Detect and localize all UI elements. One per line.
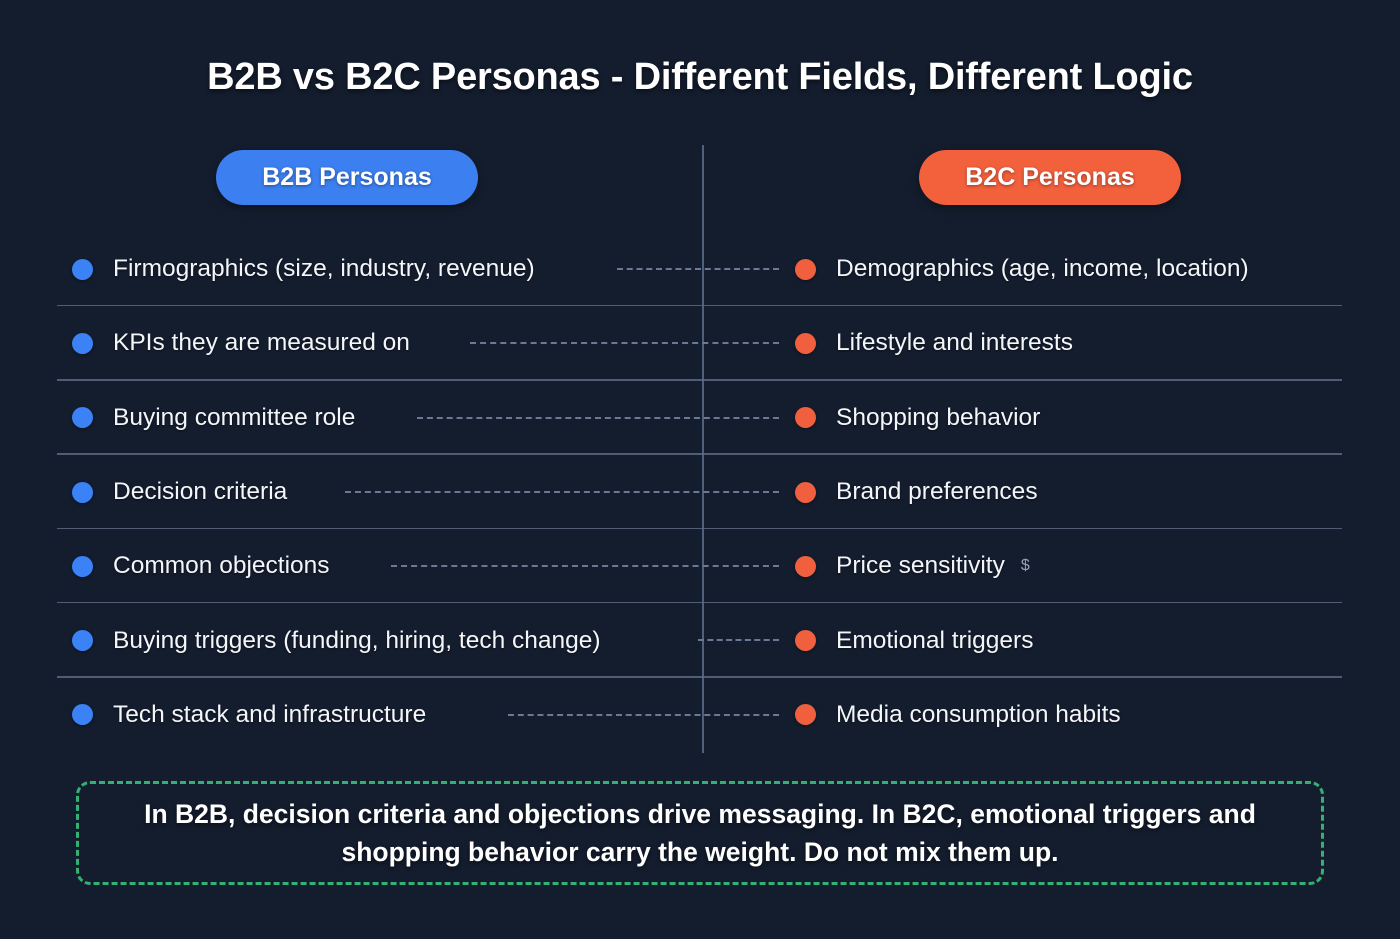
row-left-label: Tech stack and infrastructure [113, 701, 426, 729]
row-connector [470, 342, 779, 344]
row-right-cell: Shopping behavior [795, 381, 1056, 455]
row-right-label: Emotional triggers [836, 627, 1033, 655]
row-left-cell: Tech stack and infrastructure [72, 678, 426, 752]
row-left-cell: Common objections [72, 529, 330, 603]
bullet-dot-icon [72, 259, 93, 280]
bullet-dot-icon [795, 407, 816, 428]
bullet-dot-icon [72, 407, 93, 428]
bullet-dot-icon [795, 259, 816, 280]
row-right-cell: Lifestyle and interests [795, 306, 1089, 380]
row-connector [391, 565, 779, 567]
bullet-dot-icon [795, 333, 816, 354]
row-right-cell: Brand preferences [795, 455, 1054, 529]
table-row: Buying committee role Shopping behavior [0, 381, 1400, 455]
bullet-dot-icon [795, 630, 816, 651]
row-left-cell: Decision criteria [72, 455, 287, 529]
bullet-dot-icon [72, 482, 93, 503]
row-right-cell: Media consumption habits [795, 678, 1137, 752]
row-left-cell: KPIs they are measured on [72, 306, 410, 380]
row-left-label: KPIs they are measured on [113, 329, 410, 357]
column-header-b2c: B2C Personas [919, 150, 1181, 205]
bullet-dot-icon [72, 630, 93, 651]
row-right-cell: Emotional triggers [795, 603, 1049, 677]
table-row: Tech stack and infrastructure Media cons… [0, 678, 1400, 752]
row-left-label: Decision criteria [113, 478, 287, 506]
row-left-label: Firmographics (size, industry, revenue) [113, 255, 535, 283]
bullet-dot-icon [72, 704, 93, 725]
bullet-dot-icon [72, 333, 93, 354]
row-connector [508, 714, 779, 716]
row-right-cell: Demographics (age, income, location) [795, 232, 1265, 306]
row-left-cell: Buying triggers (funding, hiring, tech c… [72, 603, 601, 677]
bullet-dot-icon [795, 482, 816, 503]
table-row: Buying triggers (funding, hiring, tech c… [0, 603, 1400, 677]
row-connector [617, 268, 779, 270]
row-right-label: Media consumption habits [836, 701, 1121, 729]
table-row: Decision criteria Brand preferences [0, 455, 1400, 529]
row-left-label: Buying triggers (funding, hiring, tech c… [113, 627, 601, 655]
comparison-table: Firmographics (size, industry, revenue) … [0, 232, 1400, 752]
row-connector [417, 417, 779, 419]
row-right-label: Brand preferences [836, 478, 1038, 506]
infographic-root: B2B vs B2C Personas - Different Fields, … [0, 0, 1400, 939]
dollar-sign-icon: $ [1021, 557, 1030, 575]
row-left-cell: Firmographics (size, industry, revenue) [72, 232, 535, 306]
row-left-label: Buying committee role [113, 404, 355, 432]
bullet-dot-icon [795, 556, 816, 577]
callout-box: In B2B, decision criteria and objections… [76, 781, 1324, 885]
row-right-cell: Price sensitivity $ [795, 529, 1030, 603]
table-row: KPIs they are measured on Lifestyle and … [0, 306, 1400, 380]
row-right-label: Price sensitivity [836, 552, 1005, 580]
row-right-label: Shopping behavior [836, 404, 1040, 432]
table-row: Common objections Price sensitivity $ [0, 529, 1400, 603]
row-connector [345, 491, 779, 493]
row-right-label: Lifestyle and interests [836, 329, 1073, 357]
column-header-b2b: B2B Personas [216, 150, 478, 205]
row-connector [698, 639, 779, 641]
row-left-cell: Buying committee role [72, 381, 355, 455]
bullet-dot-icon [795, 704, 816, 725]
page-title: B2B vs B2C Personas - Different Fields, … [0, 56, 1400, 99]
bullet-dot-icon [72, 556, 93, 577]
row-right-label: Demographics (age, income, location) [836, 255, 1249, 283]
table-row: Firmographics (size, industry, revenue) … [0, 232, 1400, 306]
callout-text: In B2B, decision criteria and objections… [113, 795, 1287, 871]
row-left-label: Common objections [113, 552, 330, 580]
